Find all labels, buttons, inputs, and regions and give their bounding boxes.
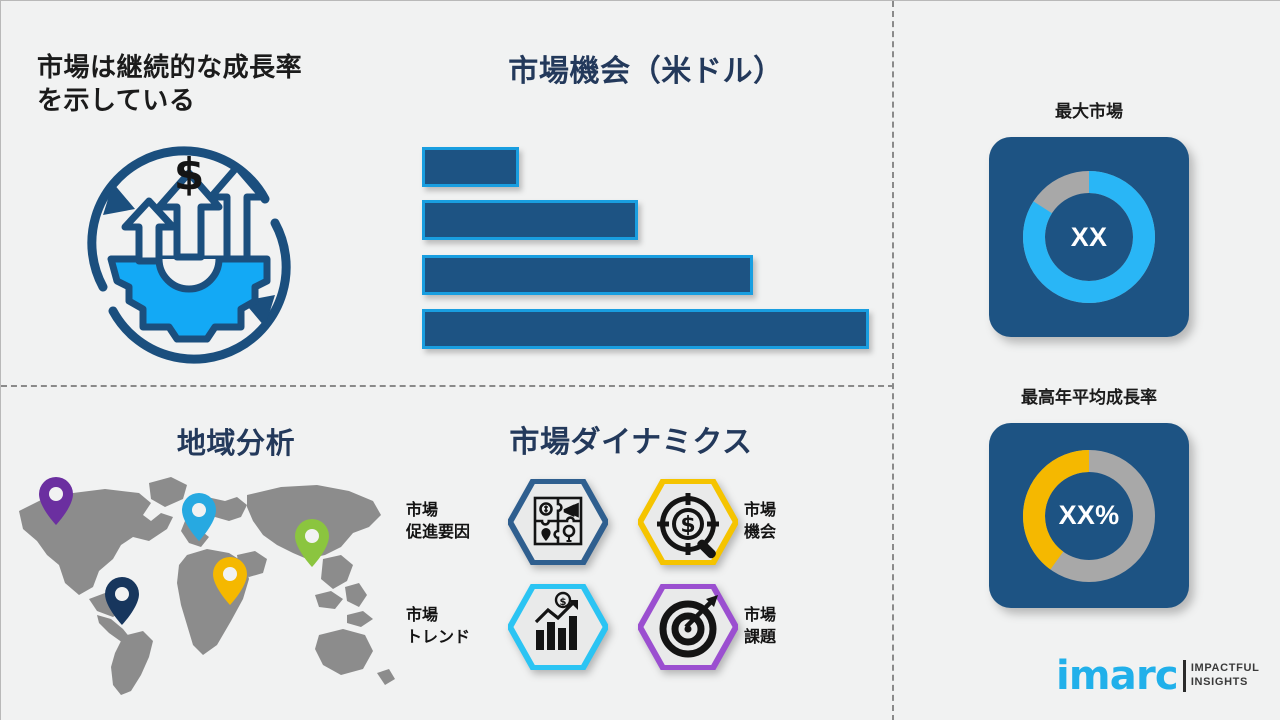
market-opportunity-bar-chart (422, 147, 882, 352)
dynamics-label: 市場 課題 (744, 605, 840, 648)
horizontal-divider (1, 385, 894, 387)
page-title-market-dynamics: 市場ダイナミクス (411, 424, 851, 462)
dynamics-item-market-trends[interactable]: 市場 トレンド $ (406, 584, 608, 670)
svg-text:$: $ (560, 597, 567, 608)
highest-cagr-value: XX% (1014, 441, 1164, 591)
magnifier-dollar-icon: $ (638, 479, 738, 565)
dynamics-item-market-challenges[interactable]: 市場 課題 (638, 584, 840, 670)
bar-chart-bar (422, 309, 869, 349)
page-title-growth: 市場は継続的な成長率 を示している (37, 51, 387, 116)
kpi-card-highest-cagr: XX% (989, 423, 1189, 608)
imarc-logo: imarc IMPACTFUL INSIGHTS (1056, 659, 1260, 693)
dynamics-label: 市場 トレンド (406, 605, 502, 648)
page-title-market-opportunity: 市場機会（米ドル） (411, 53, 881, 91)
logo-wordmark: imarc (1056, 659, 1178, 693)
world-map (1, 459, 401, 699)
largest-market-value: XX (1014, 162, 1164, 312)
largest-market-donut-chart: XX (1014, 162, 1164, 312)
market-dynamics-group: 市場 促進要因 (406, 479, 856, 679)
vertical-divider (892, 1, 894, 720)
dynamics-label: 市場 機会 (744, 500, 840, 543)
highest-cagr-donut-chart: XX% (1014, 441, 1164, 591)
dynamics-item-market-drivers[interactable]: 市場 促進要因 (406, 479, 608, 565)
logo-divider (1183, 660, 1186, 692)
puzzle-pieces-icon (508, 479, 608, 565)
growth-cycle-gear-icon: $ (69, 137, 309, 373)
logo-tagline: IMPACTFUL INSIGHTS (1191, 662, 1260, 690)
bar-chart-growth-icon: $ (508, 584, 608, 670)
kpi-card-largest-market: XX (989, 137, 1189, 337)
bar-chart-bar (422, 200, 638, 240)
dynamics-item-market-opportunities[interactable]: $ 市場 機会 (638, 479, 840, 565)
svg-text:$: $ (680, 513, 695, 538)
bar-chart-bar (422, 255, 753, 295)
dynamics-label: 市場 促進要因 (406, 500, 502, 543)
target-dart-icon (638, 584, 738, 670)
slide-canvas: 市場は継続的な成長率 を示している $ 市場機会（米ドル） (0, 0, 1280, 720)
page-title-regional-analysis: 地域分析 (121, 426, 351, 462)
kpi-heading-highest-cagr: 最高年平均成長率 (949, 383, 1229, 408)
dollar-symbol: $ (174, 149, 205, 200)
map-pin-south-america[interactable] (105, 577, 139, 625)
bar-chart-bar (422, 147, 519, 187)
kpi-heading-largest-market: 最大市場 (949, 97, 1229, 122)
